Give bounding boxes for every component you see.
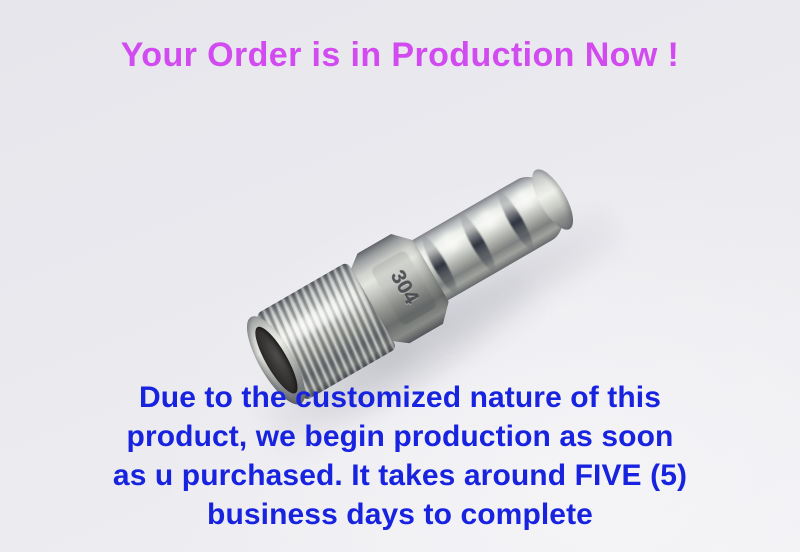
product-photo: 304 (0, 96, 800, 376)
notice-line: as u purchased. It takes around FIVE (5) (0, 456, 800, 495)
notice-line: business days to complete (0, 495, 800, 534)
notice-line: product, we begin production as soon (0, 417, 800, 456)
page-title: Your Order is in Production Now ! (0, 36, 800, 75)
notice-line: Due to the customized nature of this (0, 378, 800, 417)
promo-banner: Your Order is in Production Now ! 304 Du… (0, 0, 800, 552)
production-notice: Due to the customized nature of this pro… (0, 378, 800, 534)
